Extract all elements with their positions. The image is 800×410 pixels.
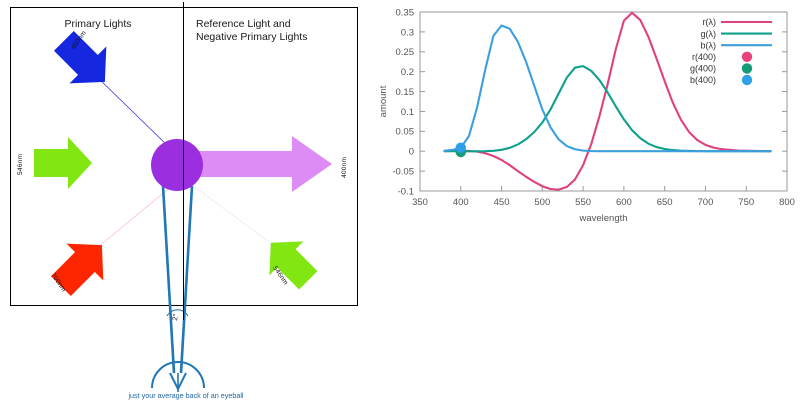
x-axis-label: wavelength xyxy=(578,213,627,224)
label-400nm: 400nm xyxy=(341,157,348,178)
light-arrow-reference-400nm xyxy=(198,136,332,192)
chart-svg: 350400450500550600650700750800-0.1-0.050… xyxy=(372,0,800,240)
y-tick-label: 0.3 xyxy=(401,27,414,38)
x-tick-label: 350 xyxy=(412,197,428,208)
y-tick-label: 0.1 xyxy=(401,107,414,118)
y-tick-label: 0.25 xyxy=(396,47,415,58)
legend-swatch-dot-5 xyxy=(742,75,752,85)
light-arrows-layer xyxy=(0,0,372,410)
legend-label-0: r(λ) xyxy=(703,17,717,27)
y-axis-label: amount xyxy=(378,85,389,117)
legend-label-1: g(λ) xyxy=(701,29,717,39)
bipartite-field-circle xyxy=(151,139,203,191)
legend-label-2: b(λ) xyxy=(701,40,717,50)
color-matching-experiment-diagram: Primary Lights Reference Light and Negat… xyxy=(0,0,372,410)
y-tick-label: 0 xyxy=(409,147,414,158)
x-tick-label: 600 xyxy=(616,197,632,208)
legend-label-3: r(400) xyxy=(692,52,716,62)
y-tick-label: 0.05 xyxy=(396,127,415,138)
light-arrow-red-primary xyxy=(43,227,121,305)
x-tick-label: 450 xyxy=(494,197,510,208)
x-tick-label: 750 xyxy=(738,197,754,208)
panel-divider-overlay xyxy=(183,2,184,320)
x-tick-label: 700 xyxy=(698,197,714,208)
color-matching-functions-chart: 350400450500550600650700750800-0.1-0.050… xyxy=(372,0,800,240)
light-arrow-green-primary xyxy=(34,137,92,189)
light-arrow-negative-green xyxy=(254,226,325,297)
x-tick-label: 550 xyxy=(575,197,591,208)
legend-swatch-dot-4 xyxy=(742,63,752,73)
x-tick-label: 650 xyxy=(657,197,673,208)
x-tick-label: 800 xyxy=(779,197,795,208)
y-tick-label: -0.1 xyxy=(398,186,414,197)
label-546nm-left: 546nm xyxy=(17,154,24,175)
y-tick-label: 0.15 xyxy=(396,87,415,98)
y-tick-label: 0.2 xyxy=(401,67,414,78)
x-tick-label: 500 xyxy=(534,197,550,208)
legend-swatch-dot-3 xyxy=(742,52,752,62)
series-line-2 xyxy=(444,66,770,151)
data-point-b400 xyxy=(456,142,466,152)
legend-label-5: b(400) xyxy=(690,75,716,85)
y-tick-label: 0.35 xyxy=(396,7,415,18)
y-tick-label: -0.05 xyxy=(392,167,414,178)
label-viewing-angle: 2° xyxy=(172,313,180,321)
x-tick-label: 400 xyxy=(453,197,469,208)
legend-label-4: g(400) xyxy=(690,64,716,74)
eyeball-caption: just your average back of an eyeball xyxy=(0,391,372,400)
screenshot-root: Primary Lights Reference Light and Negat… xyxy=(0,0,800,410)
